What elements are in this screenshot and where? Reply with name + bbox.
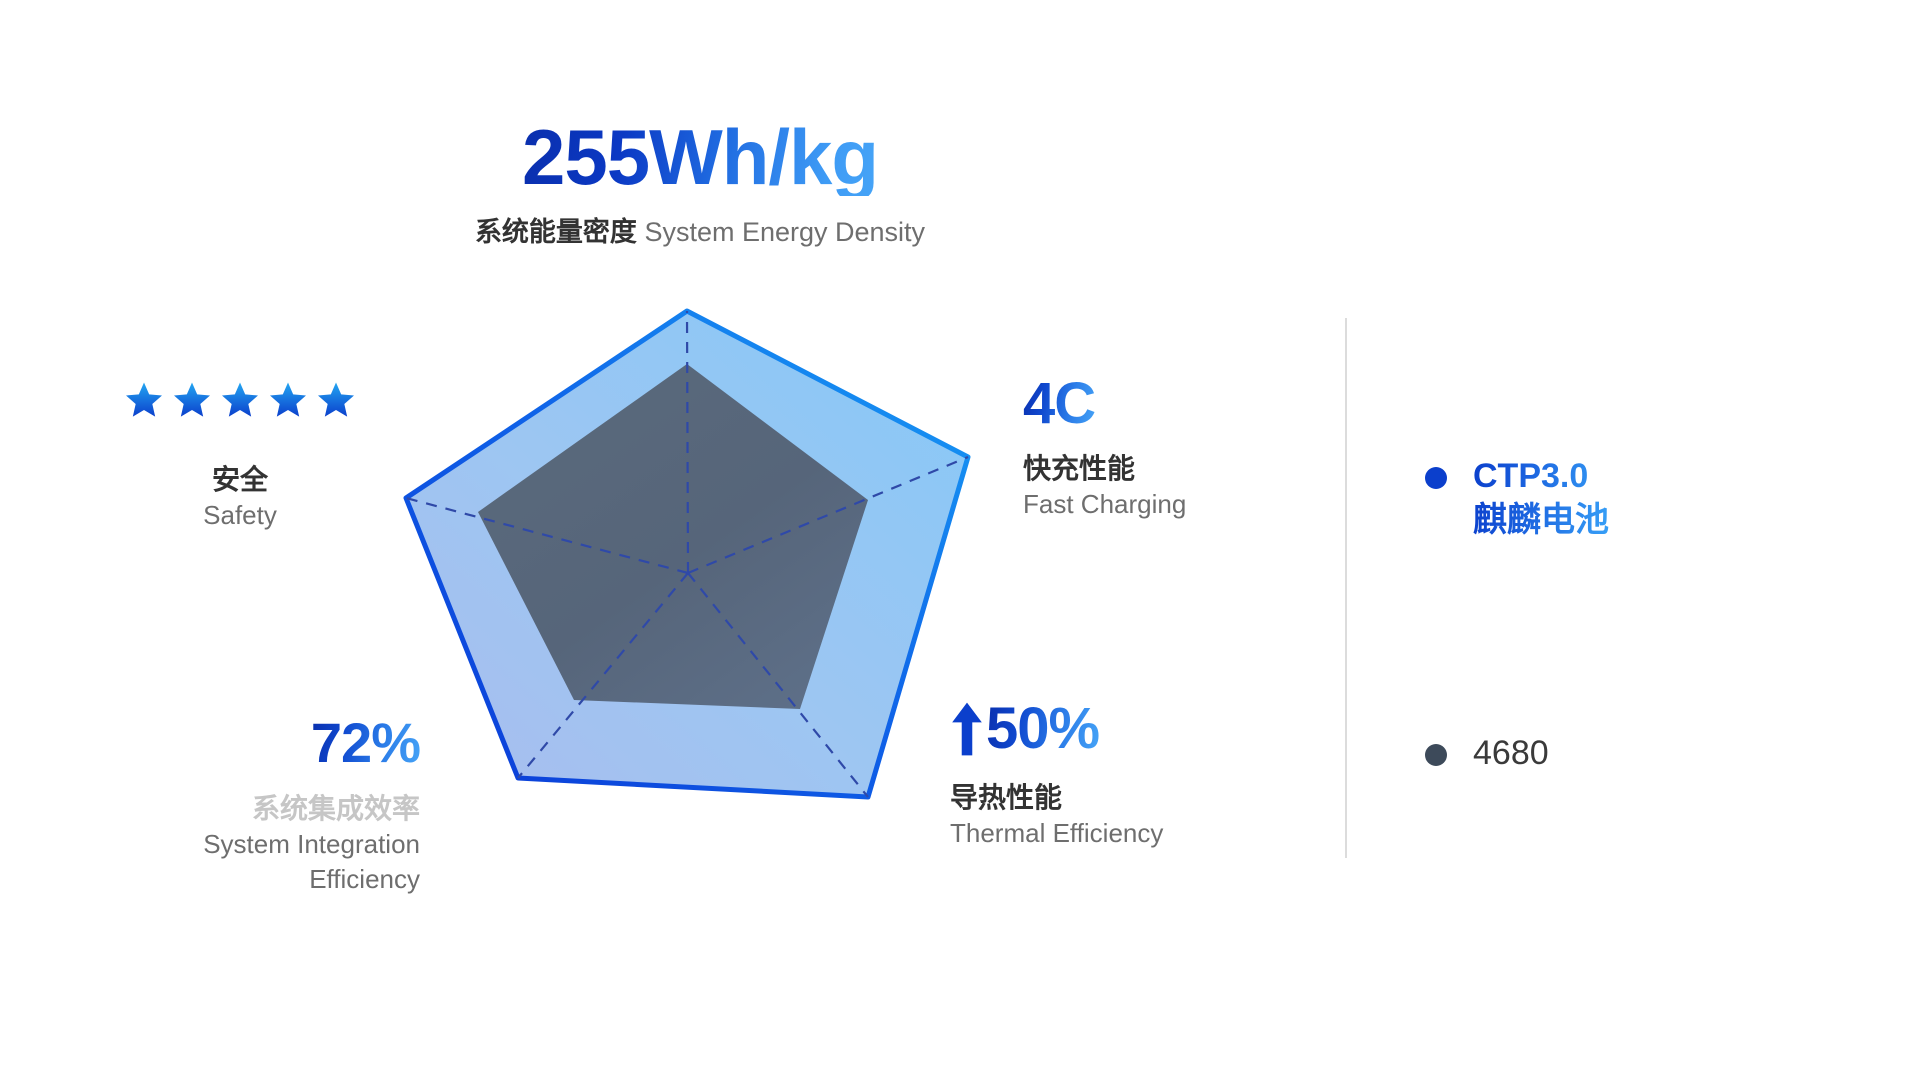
fast-charging-label-en: Fast Charging — [1023, 487, 1353, 522]
star-icon — [172, 380, 212, 420]
safety-star-rating — [60, 380, 420, 420]
fast-charging-label-cn: 快充性能 — [1023, 451, 1353, 487]
legend-label-ctp30-line1: CTP3.0 — [1473, 455, 1609, 499]
metric-system-integration-efficiency: 72% 系统集成效率 System Integration Efficiency — [40, 715, 420, 898]
energy-density-label-cn: 系统能量密度 — [475, 217, 637, 247]
energy-density-label: 系统能量密度 System Energy Density — [0, 216, 1400, 248]
fast-charging-value: 4C — [1023, 375, 1095, 433]
radar-chart — [380, 260, 1040, 840]
metric-fast-charging: 4C 快充性能 Fast Charging — [1023, 375, 1353, 522]
headline-block: 255Wh/kg 系统能量密度 System Energy Density — [0, 118, 1400, 248]
legend-label-4680-line1: 4680 — [1473, 732, 1549, 776]
vertical-divider — [1345, 318, 1347, 858]
legend-dot-icon — [1425, 744, 1447, 766]
legend-label-ctp30: CTP3.0 麒麟电池 — [1473, 455, 1609, 542]
infographic-canvas: 255Wh/kg 系统能量密度 System Energy Density — [0, 0, 1920, 1080]
safety-label-cn: 安全 — [60, 462, 420, 498]
metric-thermal-efficiency: 50% 导热性能 Thermal Efficiency — [950, 700, 1350, 851]
sie-value: 72% — [311, 715, 420, 771]
thermal-efficiency-label-en: Thermal Efficiency — [950, 816, 1350, 851]
sie-label-en-line1: System Integration — [40, 827, 420, 862]
arrow-up-icon — [950, 701, 984, 757]
thermal-efficiency-value: 50% — [986, 700, 1099, 758]
legend-item-ctp30[interactable]: CTP3.0 麒麟电池 — [1425, 455, 1845, 542]
legend-label-ctp30-line2: 麒麟电池 — [1473, 499, 1609, 543]
energy-density-value: 255Wh/kg — [522, 118, 878, 196]
energy-density-label-en: System Energy Density — [644, 217, 925, 247]
star-icon — [316, 380, 356, 420]
thermal-value-group: 50% — [950, 700, 1099, 758]
star-icon — [124, 380, 164, 420]
chart-legend: CTP3.0 麒麟电池 4680 — [1425, 455, 1845, 966]
legend-label-4680: 4680 — [1473, 732, 1549, 776]
safety-label-en: Safety — [60, 498, 420, 533]
star-icon — [268, 380, 308, 420]
sie-label-en-line2: Efficiency — [40, 862, 420, 897]
thermal-efficiency-label-cn: 导热性能 — [950, 780, 1350, 816]
star-icon — [220, 380, 260, 420]
legend-item-4680[interactable]: 4680 — [1425, 732, 1845, 776]
sie-label-cn: 系统集成效率 — [40, 791, 420, 827]
metric-safety: 安全 Safety — [60, 380, 420, 533]
legend-dot-icon — [1425, 467, 1447, 489]
